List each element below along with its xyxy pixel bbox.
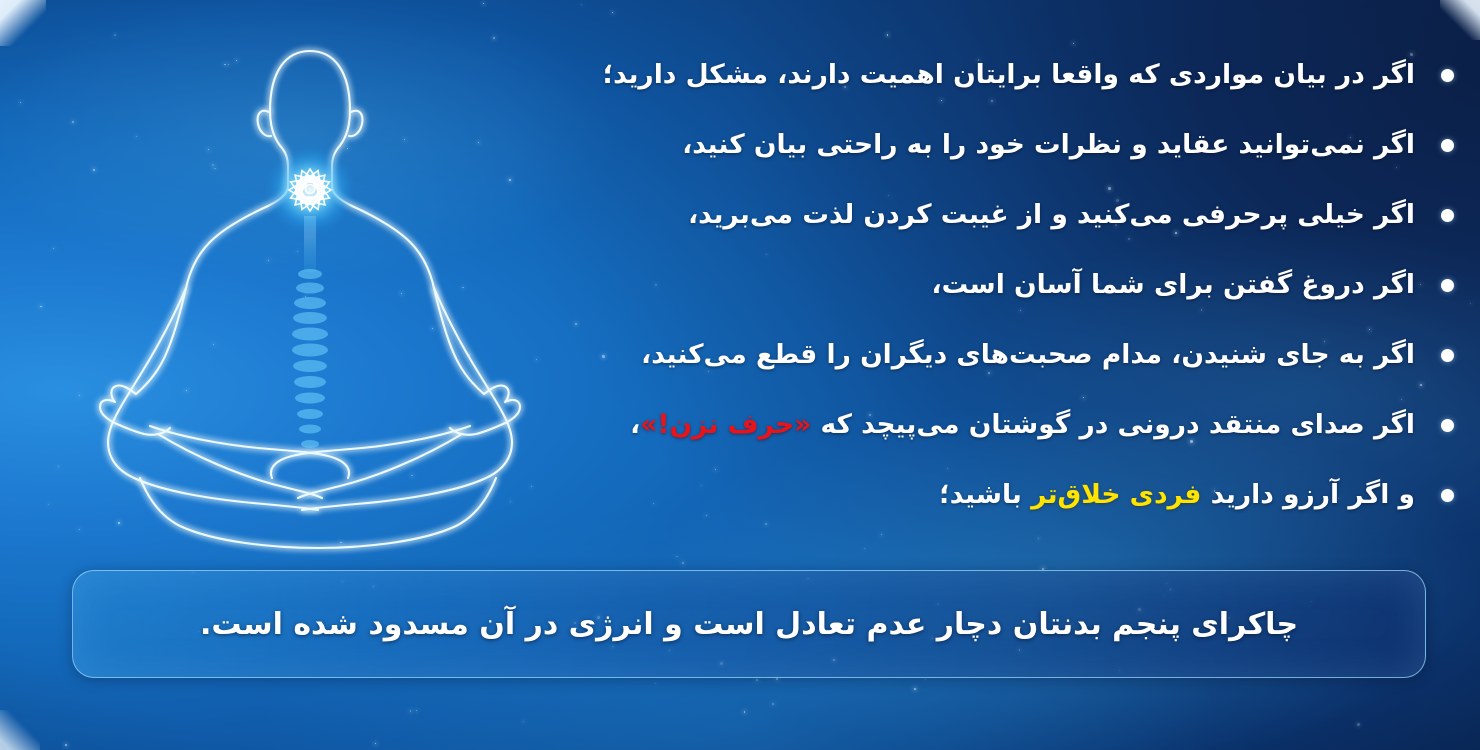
corner-highlight-bottom-left <box>0 710 40 750</box>
bullet-dot-icon <box>1441 489 1454 502</box>
bullet-dot-icon <box>1441 279 1454 292</box>
bullet-dot-icon <box>1441 139 1454 152</box>
bullet-item: اگر در بیان مواردی که واقعا برایتان اهمی… <box>444 40 1454 110</box>
bullet-dot-icon <box>1441 419 1454 432</box>
throat-chakra-icon <box>264 144 356 236</box>
conclusion-banner-text: چاکرای پنجم بدنتان دچار عدم تعادل است و … <box>180 607 1318 642</box>
spine-energy-column <box>292 216 328 448</box>
bullet-item: اگر دروغ گفتن برای شما آسان است، <box>444 250 1454 320</box>
symptom-bullet-list: اگر در بیان مواردی که واقعا برایتان اهمی… <box>444 40 1454 530</box>
bullet-dot-icon <box>1441 349 1454 362</box>
infographic-canvas: اگر در بیان مواردی که واقعا برایتان اهمی… <box>0 0 1480 750</box>
bullet-text: و اگر آرزو دارید فردی خلاق‌تر باشید؛ <box>444 478 1415 511</box>
bullet-text: اگر در بیان مواردی که واقعا برایتان اهمی… <box>444 58 1415 91</box>
corner-highlight-top-right <box>1440 0 1480 40</box>
conclusion-banner: چاکرای پنجم بدنتان دچار عدم تعادل است و … <box>72 570 1426 678</box>
bullet-text-prefix: اگر صدای منتقد درونی در گوشتان می‌پیچد ک… <box>811 409 1415 440</box>
bullet-dot-icon <box>1441 69 1454 82</box>
bullet-text-highlight: «حرف نزن!» <box>640 409 811 440</box>
bullet-text-prefix: و اگر آرزو دارید <box>1201 479 1415 510</box>
bullet-item: اگر نمی‌توانید عقاید و نظرات خود را به ر… <box>444 110 1454 180</box>
bullet-item: اگر خیلی پرحرفی می‌کنید و از غیبت کردن ل… <box>444 180 1454 250</box>
bullet-text: اگر به جای شنیدن، مدام صحبت‌های دیگران ر… <box>444 338 1415 371</box>
bullet-text: اگر نمی‌توانید عقاید و نظرات خود را به ر… <box>444 128 1415 161</box>
bullet-text: اگر خیلی پرحرفی می‌کنید و از غیبت کردن ل… <box>444 198 1415 231</box>
bullet-text-highlight: فردی خلاق‌تر <box>1031 479 1201 510</box>
bullet-text-suffix: باشید؛ <box>939 479 1031 510</box>
bullet-item: اگر به جای شنیدن، مدام صحبت‌های دیگران ر… <box>444 320 1454 390</box>
bullet-item: اگر صدای منتقد درونی در گوشتان می‌پیچد ک… <box>444 390 1454 460</box>
bullet-text-suffix: ، <box>630 409 640 440</box>
bullet-text: اگر صدای منتقد درونی در گوشتان می‌پیچد ک… <box>444 408 1415 441</box>
bullet-item: و اگر آرزو دارید فردی خلاق‌تر باشید؛ <box>444 460 1454 530</box>
bullet-dot-icon <box>1441 209 1454 222</box>
bullet-text: اگر دروغ گفتن برای شما آسان است، <box>444 268 1415 301</box>
